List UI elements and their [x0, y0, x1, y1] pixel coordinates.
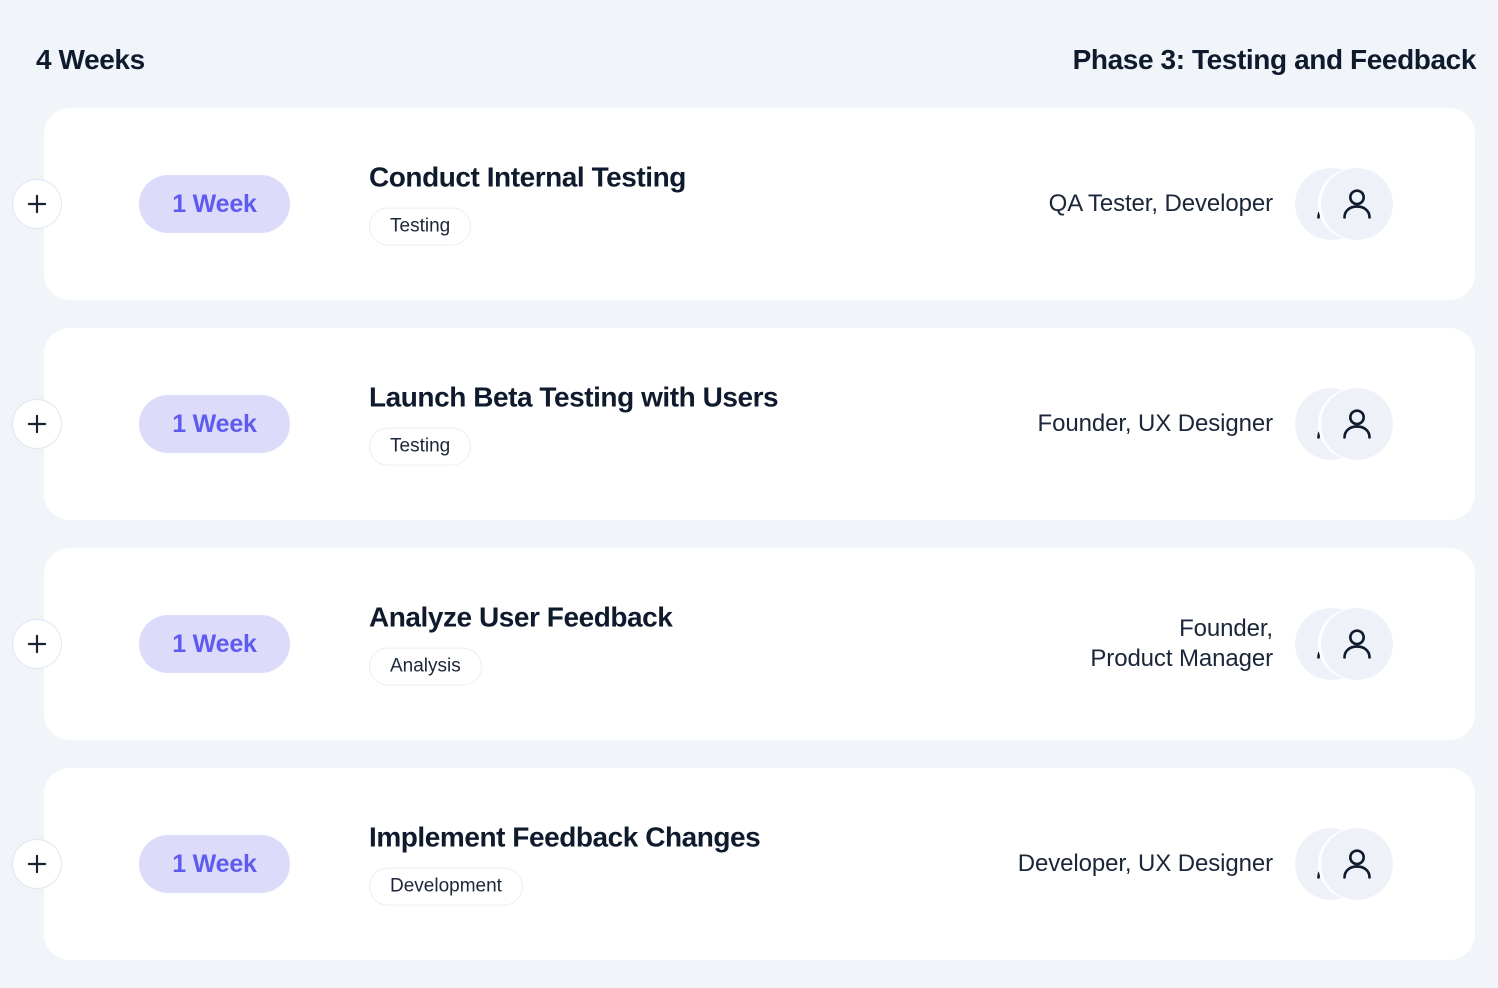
task-card[interactable]: 1 Week Launch Beta Testing with Users Te… — [44, 328, 1475, 520]
task-title: Conduct Internal Testing — [369, 163, 686, 194]
plus-icon — [24, 411, 50, 437]
assignee-names: Founder, UX Designer — [1038, 409, 1273, 439]
task-row: 1 Week Conduct Internal Testing Testing … — [0, 108, 1498, 300]
task-category-tag[interactable]: Testing — [369, 427, 471, 465]
duration-badge: 1 Week — [139, 175, 290, 233]
task-category-tag[interactable]: Development — [369, 867, 523, 905]
task-info: Implement Feedback Changes Development — [369, 823, 760, 906]
assignee-group: QA Tester, Developer — [1049, 168, 1393, 240]
assignee-group: Developer, UX Designer — [1018, 828, 1393, 900]
duration-badge: 1 Week — [139, 615, 290, 673]
avatar — [1321, 828, 1393, 900]
task-title: Implement Feedback Changes — [369, 823, 760, 854]
add-task-button[interactable] — [12, 839, 62, 889]
assignee-names: QA Tester, Developer — [1049, 189, 1273, 219]
duration-badge: 1 Week — [139, 395, 290, 453]
avatar — [1321, 388, 1393, 460]
task-card[interactable]: 1 Week Conduct Internal Testing Testing … — [44, 108, 1475, 300]
assignee-group: Founder, UX Designer — [1038, 388, 1393, 460]
page-title: Phase 3: Testing and Feedback — [1073, 44, 1476, 76]
add-task-button[interactable] — [12, 179, 62, 229]
total-duration-label: 4 Weeks — [36, 44, 145, 76]
panel-header: 4 Weeks Phase 3: Testing and Feedback — [36, 36, 1476, 84]
add-task-button[interactable] — [12, 619, 62, 669]
task-info: Conduct Internal Testing Testing — [369, 163, 686, 246]
duration-badge: 1 Week — [139, 835, 290, 893]
task-row: 1 Week Analyze User Feedback Analysis Fo… — [0, 548, 1498, 740]
task-category-tag[interactable]: Testing — [369, 207, 471, 245]
task-card[interactable]: 1 Week Analyze User Feedback Analysis Fo… — [44, 548, 1475, 740]
plus-icon — [24, 191, 50, 217]
task-info: Analyze User Feedback Analysis — [369, 603, 672, 686]
task-card[interactable]: 1 Week Implement Feedback Changes Develo… — [44, 768, 1475, 960]
plus-icon — [24, 851, 50, 877]
task-title: Analyze User Feedback — [369, 603, 672, 634]
avatar — [1321, 608, 1393, 680]
avatar-stack[interactable] — [1295, 168, 1393, 240]
plus-icon — [24, 631, 50, 657]
avatar-stack[interactable] — [1295, 388, 1393, 460]
task-title: Launch Beta Testing with Users — [369, 383, 778, 414]
assignee-group: Founder, Product Manager — [1090, 608, 1393, 680]
add-task-button[interactable] — [12, 399, 62, 449]
avatar-stack[interactable] — [1295, 828, 1393, 900]
task-category-tag[interactable]: Analysis — [369, 647, 482, 685]
avatar-stack[interactable] — [1295, 608, 1393, 680]
task-row: 1 Week Launch Beta Testing with Users Te… — [0, 328, 1498, 520]
task-list: 1 Week Conduct Internal Testing Testing … — [0, 108, 1498, 988]
roadmap-phase-panel: 4 Weeks Phase 3: Testing and Feedback 1 … — [0, 0, 1498, 988]
assignee-names: Developer, UX Designer — [1018, 849, 1273, 879]
assignee-names: Founder, Product Manager — [1090, 614, 1273, 675]
avatar — [1321, 168, 1393, 240]
task-info: Launch Beta Testing with Users Testing — [369, 383, 778, 466]
task-row: 1 Week Implement Feedback Changes Develo… — [0, 768, 1498, 960]
